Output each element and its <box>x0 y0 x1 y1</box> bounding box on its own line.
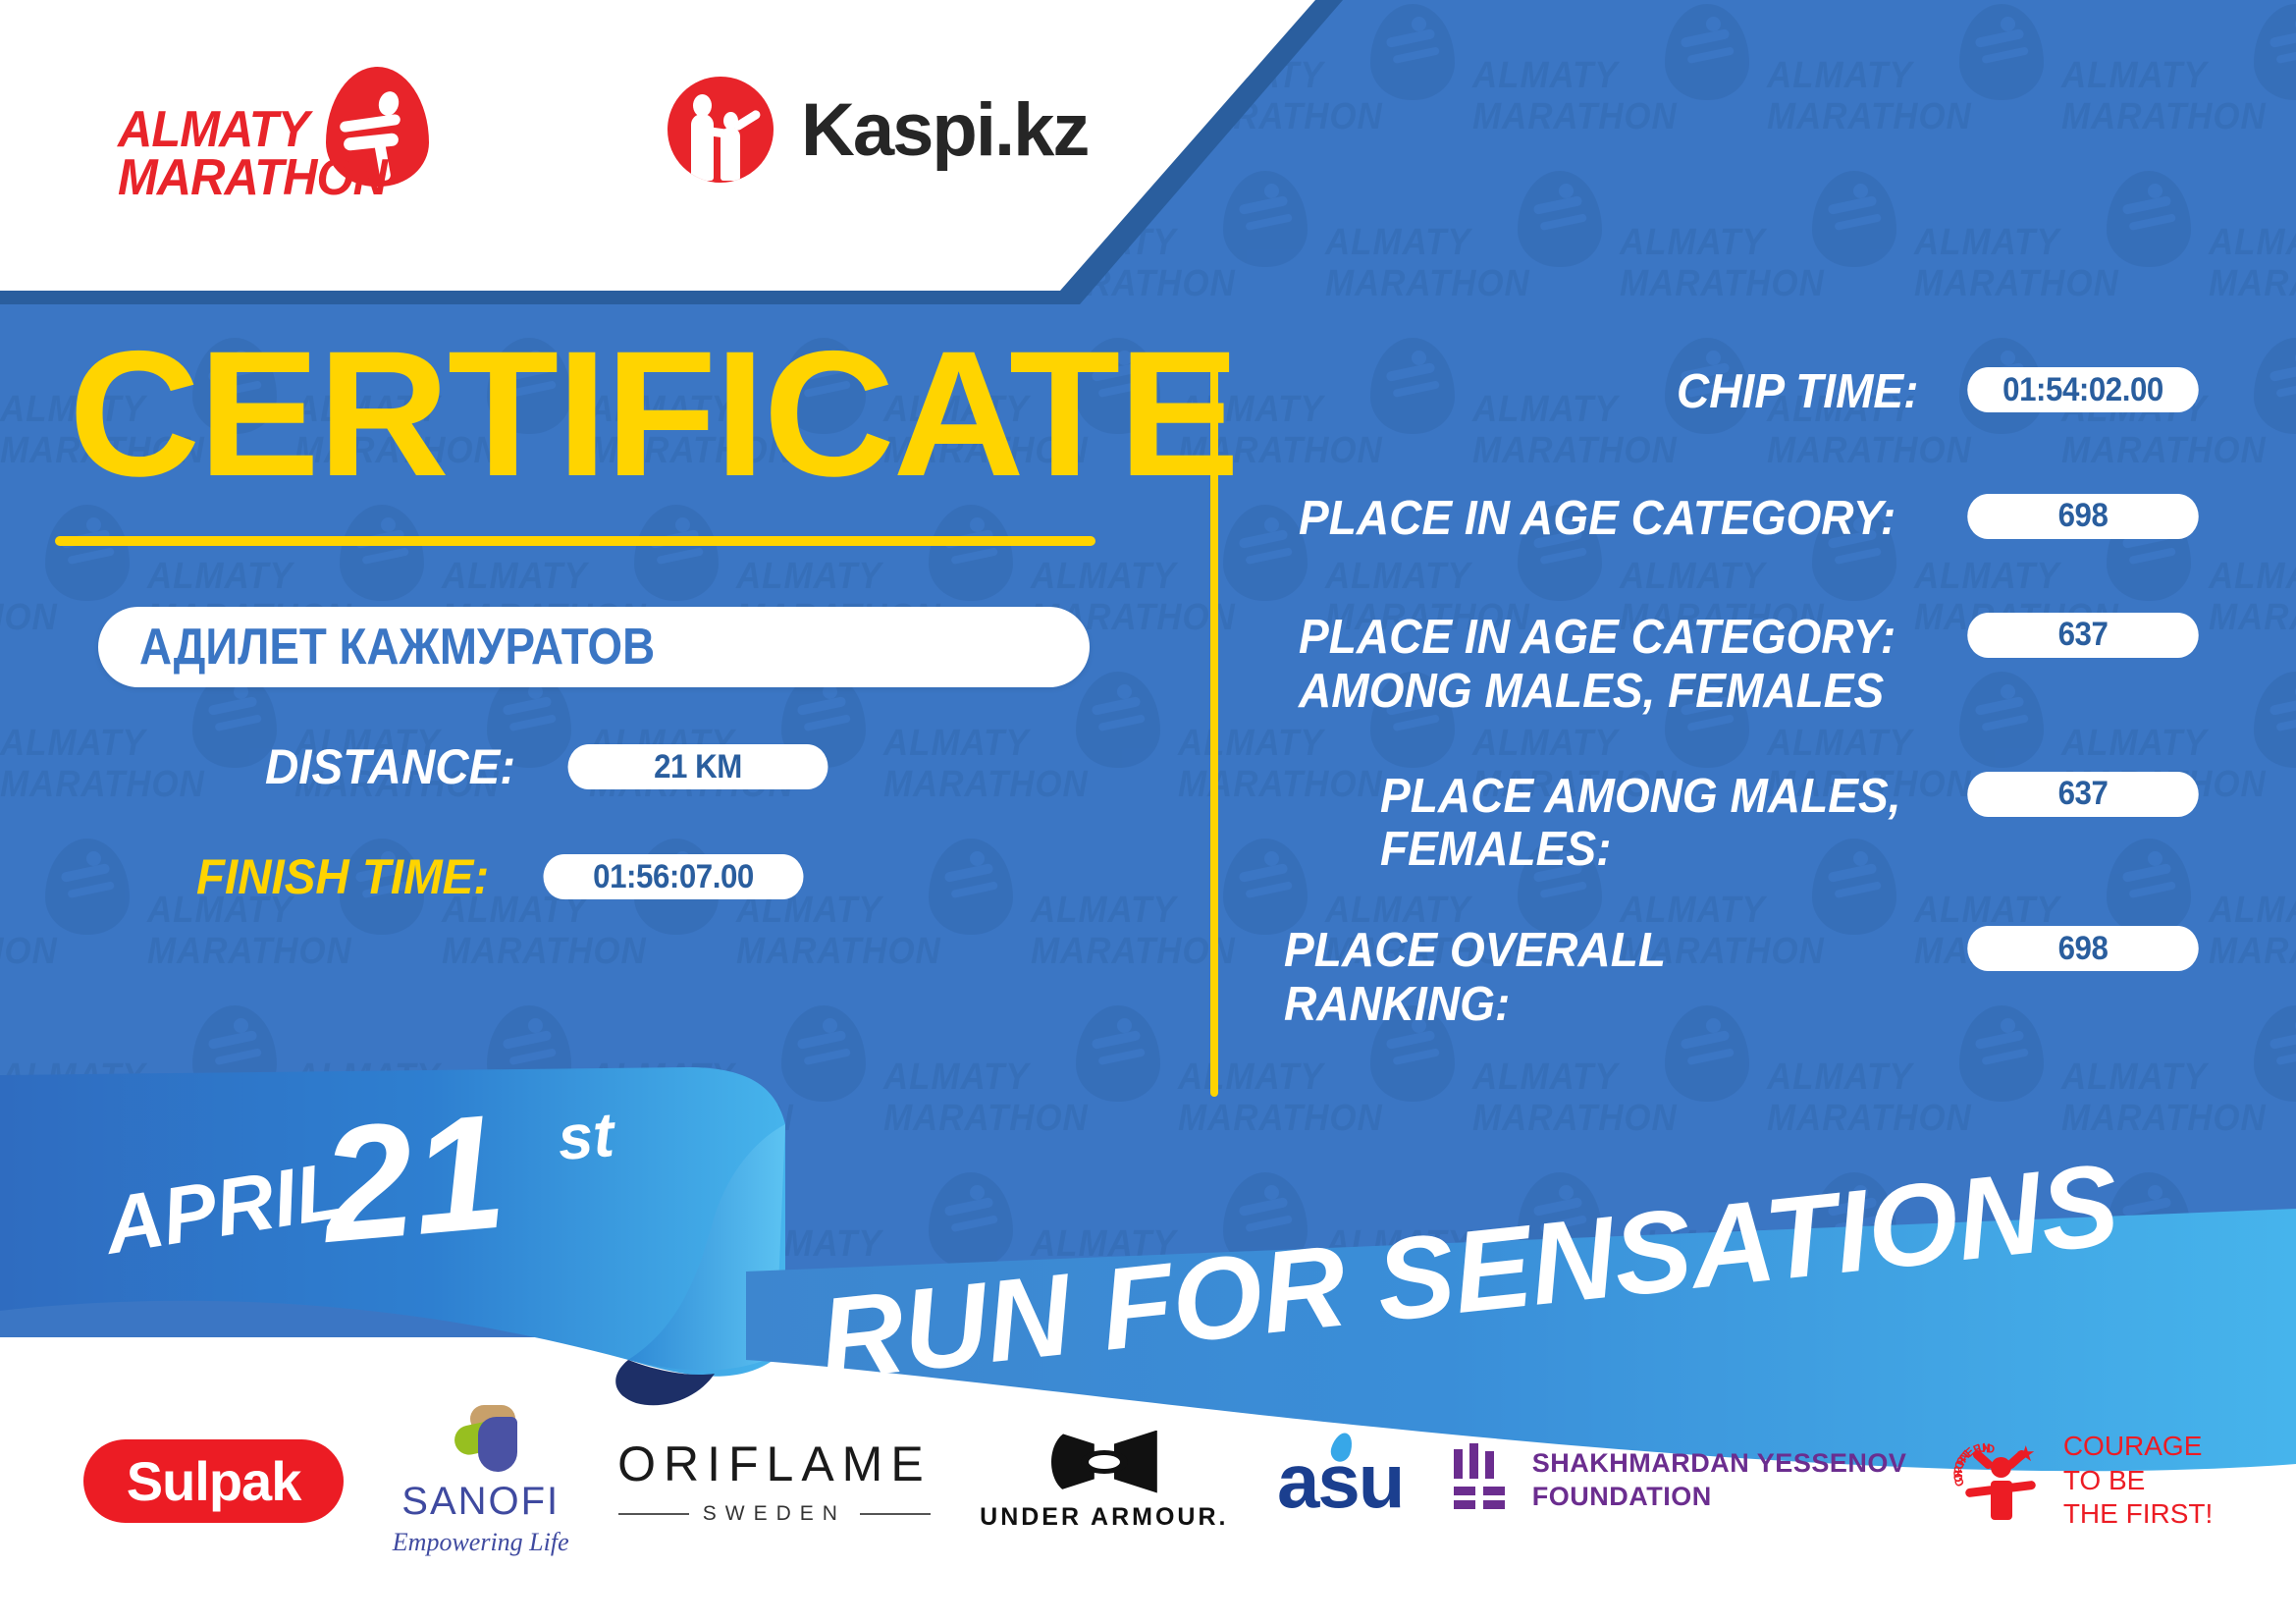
result-row-place-among-males-females: PLACE AMONG MALES, FEMALES: 637 <box>1266 770 2209 878</box>
label-line-1: PLACE IN AGE CATEGORY: <box>1299 611 1896 665</box>
watermark-tile: ALMATYMARATHON <box>2209 835 2296 1001</box>
logo-line-2: MARATHON <box>118 154 387 202</box>
courage-line-2: TO BE <box>2063 1464 2213 1498</box>
sulpak-logo: Sulpak <box>83 1439 345 1523</box>
watermark-tile: ALMATYMARATHON <box>1472 0 1767 167</box>
arc-letter: D <box>1986 1441 1996 1456</box>
watermark-tile: ALMATYMARATHON <box>1620 167 1914 334</box>
sanofi-tagline: Empowering Life <box>393 1528 569 1557</box>
logo-line-1: ALMATY <box>118 106 387 154</box>
stat-row-finish-time: FINISH TIME: 01:56:07.00 <box>196 848 1168 905</box>
finish-time-label: FINISH TIME: <box>196 848 489 905</box>
sponsor-under-armour: UNDER ARMOUR. <box>980 1431 1228 1532</box>
athlete-name-value: АДИЛЕТ КАЖМУРАТОВ <box>139 618 655 677</box>
courage-line-3: THE FIRST! <box>2063 1497 2213 1532</box>
svg-text:st: st <box>556 1099 618 1173</box>
label-line-1: PLACE AMONG MALES, <box>1380 770 1901 824</box>
distance-label: DISTANCE: <box>265 738 515 795</box>
courage-text: COURAGE TO BE THE FIRST! <box>2063 1430 2213 1532</box>
place-among-males-females-label: PLACE AMONG MALES, FEMALES: <box>1380 770 1901 878</box>
certificate-left-column: CERTIFICATE АДИЛЕТ КАЖМУРАТОВ DISTANCE: … <box>0 324 1168 905</box>
athlete-name-field: АДИЛЕТ КАЖМУРАТОВ <box>98 607 1090 687</box>
almaty-marathon-logo: ALMATY MARATHON <box>118 67 442 234</box>
distance-value: 21 KM <box>567 744 828 789</box>
certificate-canvas: ALMATYMARATHONALMATYMARATHONALMATYMARATH… <box>0 0 2296 1624</box>
yessenov-logo: SHAKHMARDAN YESSENOV FOUNDATION <box>1452 1443 1907 1518</box>
watermark-tile: ALMATYMARATHON <box>2209 501 2296 668</box>
sponsor-yessenov-foundation: SHAKHMARDAN YESSENOV FOUNDATION <box>1452 1443 1907 1518</box>
yessenov-name: SHAKHMARDAN YESSENOV FOUNDATION <box>1532 1447 1907 1514</box>
yessenov-name-line-1: SHAKHMARDAN YESSENOV <box>1532 1447 1907 1481</box>
almaty-marathon-logo-text: ALMATY MARATHON <box>118 106 387 203</box>
yessenov-mark-icon <box>1452 1443 1511 1518</box>
sanofi-logo <box>439 1405 523 1474</box>
kaspi-logo: Kaspi.kz <box>667 77 1088 183</box>
divider-line-right <box>860 1513 931 1515</box>
svg-text:21: 21 <box>312 1080 511 1277</box>
kaspi-wordmark: Kaspi.kz <box>801 87 1088 173</box>
place-age-category-label: PLACE IN AGE CATEGORY: <box>1299 492 1896 546</box>
sponsor-asu: asu <box>1277 1436 1403 1526</box>
kaspi-people-circle-icon <box>667 77 774 183</box>
watermark-tile: ALMATYMARATHON <box>2061 0 2296 167</box>
watermark-tile: ALMATYMARATHON <box>1914 167 2209 334</box>
sponsor-sanofi: SANOFI Empowering Life <box>393 1405 569 1557</box>
watermark-tile: ALMATYMARATHON <box>1767 0 2061 167</box>
finish-time-value: 01:56:07.00 <box>543 854 803 899</box>
oriflame-country: SWEDEN <box>703 1502 846 1526</box>
place-age-category-among-label: PLACE IN AGE CATEGORY: AMONG MALES, FEMA… <box>1299 611 1896 719</box>
place-age-category-among-value: 637 <box>1967 613 2199 658</box>
divider-line-left <box>618 1513 689 1515</box>
watermark-tile: ALMATYMARATHON <box>2209 167 2296 334</box>
vertical-divider <box>1210 365 1218 1097</box>
sponsor-courage-to-be-the-first: CORPORATE FUND ★ COURAGE TO BE THE FIRST… <box>1955 1430 2213 1532</box>
result-row-place-age-category-among: PLACE IN AGE CATEGORY: AMONG MALES, FEMA… <box>1266 611 2209 719</box>
oriflame-sub: SWEDEN <box>618 1502 931 1526</box>
place-overall-ranking-label: PLACE OVERALL RANKING: <box>1284 924 1895 1032</box>
chip-time-value: 01:54:02.00 <box>1967 367 2199 412</box>
result-row-place-overall-ranking: PLACE OVERALL RANKING: 698 <box>1266 924 2209 1032</box>
sanofi-name: SANOFI <box>401 1480 560 1524</box>
under-armour-logo <box>1051 1431 1157 1493</box>
place-overall-ranking-value: 698 <box>1967 926 2199 971</box>
place-age-category-value: 698 <box>1967 494 2199 539</box>
stat-row-distance: DISTANCE: 21 KM <box>265 738 1168 795</box>
page-title: CERTIFICATE <box>69 324 1190 503</box>
certificate-right-column: CHIP TIME: 01:54:02.00 PLACE IN AGE CATE… <box>1266 365 2209 1091</box>
result-row-place-age-category: PLACE IN AGE CATEGORY: 698 <box>1266 492 2209 546</box>
label-line-2: FEMALES: <box>1380 823 1901 877</box>
courage-logo: CORPORATE FUND ★ COURAGE TO BE THE FIRST… <box>1955 1430 2213 1532</box>
watermark-tile: ALMATYMARATHON <box>1325 167 1620 334</box>
sponsor-oriflame: ORIFLAME SWEDEN <box>617 1435 932 1526</box>
oriflame-name: ORIFLAME <box>617 1435 932 1492</box>
title-underline-rule <box>55 536 1095 546</box>
sponsor-strip: Sulpak SANOFI Empowering Life ORIFLAME S… <box>0 1337 2296 1624</box>
header-content: ALMATY MARATHON Kaspi.kz <box>0 0 1315 285</box>
result-row-chip-time: CHIP TIME: 01:54:02.00 <box>1266 365 2209 419</box>
courage-figure-icon: CORPORATE FUND ★ <box>1955 1435 2046 1526</box>
place-among-males-females-value: 637 <box>1967 772 2199 817</box>
sponsor-sulpak: Sulpak <box>83 1439 345 1523</box>
yessenov-name-line-2: FOUNDATION <box>1532 1481 1907 1514</box>
chip-time-label: CHIP TIME: <box>1677 365 1919 419</box>
courage-line-1: COURAGE <box>2063 1430 2213 1464</box>
label-line-2: AMONG MALES, FEMALES <box>1299 665 1896 719</box>
asu-logo: asu <box>1277 1436 1403 1526</box>
under-armour-name: UNDER ARMOUR. <box>980 1503 1228 1532</box>
